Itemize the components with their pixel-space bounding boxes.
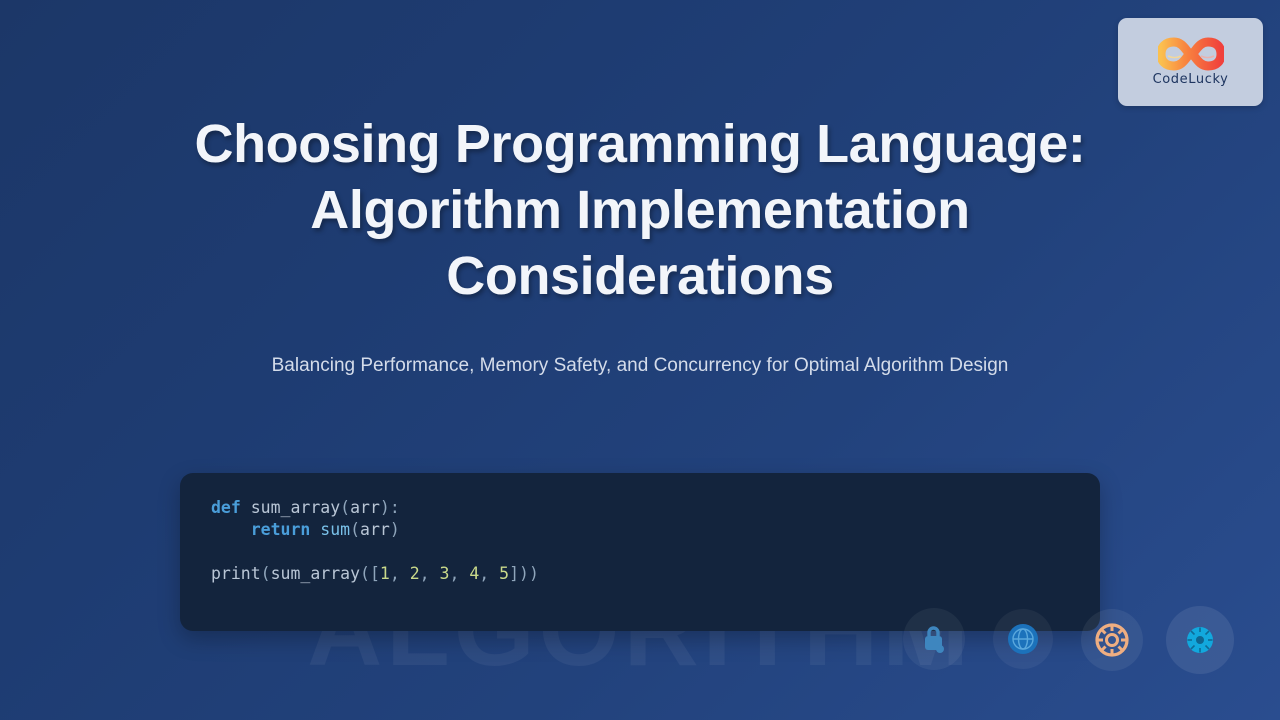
- code-token: (: [261, 564, 271, 583]
- code-token: (: [340, 498, 350, 517]
- node-icon-badge: [1166, 606, 1234, 674]
- code-token: return: [251, 520, 311, 539]
- code-token: ,: [420, 564, 440, 583]
- code-token: ])): [509, 564, 539, 583]
- code-snippet: def sum_array(arr): return sum(arr) prin…: [211, 497, 1100, 585]
- code-token: arr: [360, 520, 390, 539]
- gear-icon: [1094, 622, 1130, 658]
- code-token: print: [211, 564, 261, 583]
- code-token: arr: [350, 498, 380, 517]
- code-token: ,: [390, 564, 410, 583]
- code-token: 1: [380, 564, 390, 583]
- code-token: 3: [440, 564, 450, 583]
- gear-icon-badge: [1081, 609, 1143, 671]
- code-token: ,: [449, 564, 469, 583]
- brand-name: CodeLucky: [1153, 72, 1229, 87]
- page-subtitle: Balancing Performance, Memory Safety, an…: [0, 352, 1280, 380]
- code-token: 2: [410, 564, 420, 583]
- code-token: sum_array: [271, 564, 360, 583]
- code-token: 4: [469, 564, 479, 583]
- code-token: 5: [499, 564, 509, 583]
- code-token: ):: [380, 498, 400, 517]
- code-token: sum: [320, 520, 350, 539]
- code-token: [211, 520, 251, 539]
- code-token: ,: [479, 564, 499, 583]
- globe-icon: [1006, 622, 1040, 656]
- code-token: ([: [360, 564, 380, 583]
- code-token: def: [211, 498, 241, 517]
- page-title: Choosing Programming Language: Algorithm…: [0, 112, 1280, 310]
- globe-icon-badge: [993, 609, 1053, 669]
- code-block: def sum_array(arr): return sum(arr) prin…: [180, 473, 1100, 631]
- code-token: sum_array: [251, 498, 340, 517]
- code-token: [241, 498, 251, 517]
- code-token: [310, 520, 320, 539]
- infinity-logo-icon: [1158, 37, 1224, 71]
- lock-icon: [921, 624, 947, 654]
- code-token: ): [390, 520, 400, 539]
- brand-badge: CodeLucky: [1118, 18, 1263, 106]
- code-token: (: [350, 520, 360, 539]
- lock-icon-badge: [903, 608, 965, 670]
- node-icon: [1186, 626, 1214, 654]
